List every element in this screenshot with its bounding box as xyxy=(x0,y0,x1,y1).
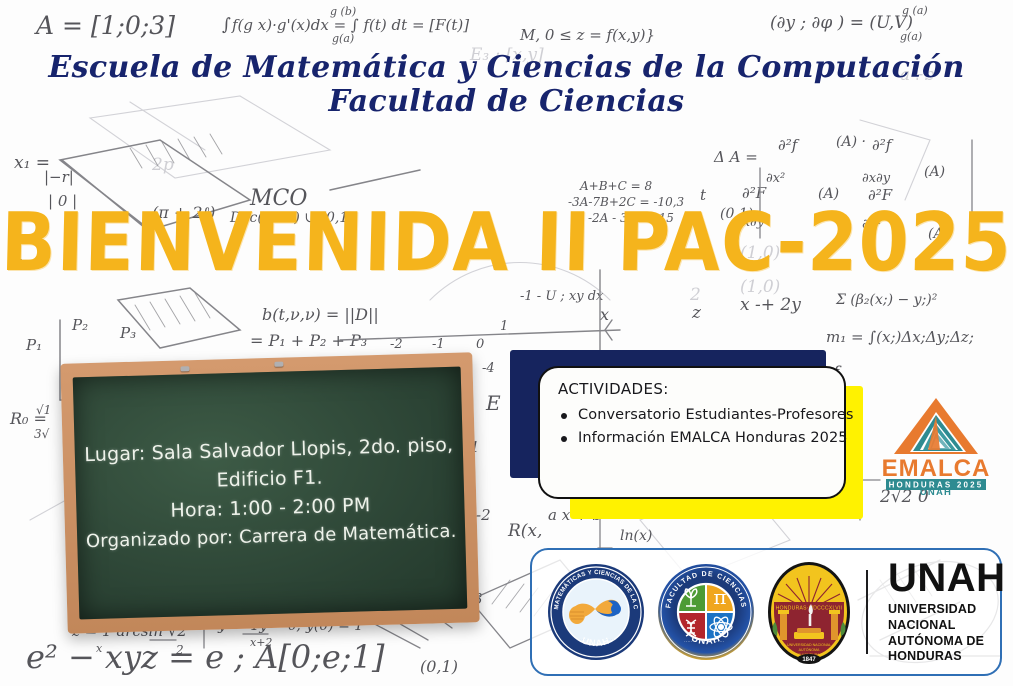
svg-text:g (b): g (b) xyxy=(330,5,356,18)
svg-text:m₁ = ∫(x;)Δx;Δy;Δz;: m₁ = ∫(x;)Δx;Δy;Δz; xyxy=(826,328,974,346)
poster-header: Escuela de Matemática y Ciencias de la C… xyxy=(0,52,1013,118)
chalkboard-surface: Lugar: Sala Salvador Llopis, 2do. piso, … xyxy=(73,367,468,620)
svg-text:0: 0 xyxy=(476,337,484,352)
svg-text:x+2: x+2 xyxy=(250,636,272,649)
svg-text:∂²f: ∂²f xyxy=(778,136,800,154)
page-title: BIENVENIDA II PAC-2025 xyxy=(0,206,1013,278)
activities-card: ACTIVIDADES: Conversatorio Estudiantes-P… xyxy=(510,350,860,520)
svg-text:e² − xyz = e ; A[0;e;1]: e² − xyz = e ; A[0;e;1] xyxy=(26,638,385,676)
svg-text:3√: 3√ xyxy=(34,427,50,441)
svg-text:UNIVERSIDAD NACIONAL: UNIVERSIDAD NACIONAL xyxy=(787,643,831,647)
svg-text:(0,1): (0,1) xyxy=(420,657,458,676)
svg-text:x -+ 2y: x -+ 2y xyxy=(740,295,801,315)
unah-subtitle-line-1: UNIVERSIDAD NACIONAL xyxy=(888,602,1006,633)
svg-text:-1 - U ; xy dx: -1 - U ; xy dx xyxy=(520,289,604,304)
svg-text:b(t,ν,ν) = ||D||: b(t,ν,ν) = ||D|| xyxy=(262,305,379,324)
institutional-logo-bar: ESCUELA DE MATEMÁTICAS Y CIENCIAS DE LA … xyxy=(530,548,1002,676)
escuela-matematicas-logo: ESCUELA DE MATEMÁTICAS Y CIENCIAS DE LA … xyxy=(546,562,646,662)
dna-icon xyxy=(686,620,696,636)
svg-text:1: 1 xyxy=(500,319,508,334)
svg-text:(A) ·: (A) · xyxy=(836,134,866,150)
unah-coat-of-arms: HONDURAS·MDCCCXLVII UNIVERSIDAD NACIONAL… xyxy=(766,560,852,664)
svg-text:·····: ····· xyxy=(684,639,693,645)
svg-text:M, 0 ≤ z = f(x,y)}: M, 0 ≤ z = f(x,y)} xyxy=(519,26,655,44)
pi-icon: π xyxy=(713,585,726,609)
svg-text:-4: -4 xyxy=(482,361,495,376)
activities-panel: ACTIVIDADES: Conversatorio Estudiantes-P… xyxy=(538,366,846,499)
svg-text:x: x xyxy=(96,642,103,655)
svg-text:= P₁ + P₂ + P₃: = P₁ + P₂ + P₃ xyxy=(250,331,367,350)
svg-text:-2: -2 xyxy=(476,506,491,524)
svg-text:g(a): g(a) xyxy=(332,32,354,45)
svg-text:·····: ····· xyxy=(606,637,617,643)
svg-text:P₁: P₁ xyxy=(25,336,42,354)
unah-acronym: UNAH xyxy=(888,559,1006,598)
svg-text:(A): (A) xyxy=(924,164,945,180)
chalkboard-line-2: Edificio F1. xyxy=(216,463,323,495)
svg-text:-1: -1 xyxy=(432,337,445,352)
header-line-1: Escuela de Matemática y Ciencias de la C… xyxy=(0,52,1013,84)
svg-text:∂x²: ∂x² xyxy=(766,171,785,186)
svg-text:E: E xyxy=(485,391,501,415)
svg-text:z: z xyxy=(691,303,702,323)
svg-text:P₃: P₃ xyxy=(119,324,136,342)
svg-text:2: 2 xyxy=(175,643,184,657)
emalca-triangle-icon xyxy=(894,398,978,454)
header-line-2: Facultad de Ciencias xyxy=(0,86,1013,118)
unah-wordmark: UNAH UNIVERSIDAD NACIONAL AUTÓNOMA DE HO… xyxy=(888,559,1006,665)
svg-text:Δ A =: Δ A = xyxy=(713,148,758,166)
unah-subtitle-line-2: AUTÓNOMA DE HONDURAS xyxy=(888,634,1006,665)
chalkboard: Lugar: Sala Salvador Llopis, 2do. piso, … xyxy=(60,352,479,633)
svg-text:Σ (β₂(x;) − y;)²: Σ (β₂(x;) − y;)² xyxy=(835,292,938,308)
facultad-ciencias-logo: FACULTAD DE CIENCIAS UNAH ····· ····· xyxy=(656,562,756,662)
svg-text:|−r|: |−r| xyxy=(44,168,74,186)
poster-canvas: 2p f(x) = (x,y) 2 (1,0) (1,0) E₃ : [x,y]… xyxy=(0,0,1013,686)
svg-text:·····: ····· xyxy=(577,637,588,643)
chalkboard-clip-left xyxy=(180,366,189,371)
svg-text:R(x,: R(x, xyxy=(507,521,542,541)
svg-text:-2: -2 xyxy=(390,337,403,352)
emalca-wordmark: EMALCA xyxy=(882,455,991,482)
emalca-institution: UNAH xyxy=(920,487,952,496)
svg-text:∫: ∫ xyxy=(222,15,231,35)
svg-text:P₂: P₂ xyxy=(71,316,88,334)
coat-of-arms-year: 1847 xyxy=(802,657,816,663)
svg-text:√1: √1 xyxy=(36,403,51,417)
activities-list-item: Información EMALCA Honduras 2025 xyxy=(558,427,828,450)
svg-text:x: x xyxy=(600,305,609,324)
svg-text:2p: 2p xyxy=(151,155,174,175)
svg-text:AUTÓNOMA: AUTÓNOMA xyxy=(799,647,820,652)
svg-text:(∂y ; ∂φ ) = (U,V): (∂y ; ∂φ ) = (U,V) xyxy=(770,13,913,33)
svg-text:∂x∂y: ∂x∂y xyxy=(862,171,891,186)
activities-title: ACTIVIDADES: xyxy=(558,380,828,398)
chalkboard-line-4: Organizado por: Carrera de Matemática. xyxy=(86,517,457,555)
emalca-logo: EMALCA HONDURAS 2025 UNAH xyxy=(866,392,1006,496)
svg-text:ln(x): ln(x) xyxy=(620,528,652,544)
svg-text:·····: ····· xyxy=(716,639,725,645)
svg-text:∂²f: ∂²f xyxy=(872,136,894,154)
activities-list-item: Conversatorio Estudiantes-Profesores xyxy=(558,404,828,427)
chalkboard-clip-right xyxy=(274,362,283,367)
unah-divider xyxy=(866,570,868,654)
svg-text:A+B+C = 8: A+B+C = 8 xyxy=(579,179,652,193)
svg-text:A = [1;0;3]: A = [1;0;3] xyxy=(34,11,175,40)
page-title-text: BIENVENIDA II PAC-2025 xyxy=(0,202,1013,283)
activities-list: Conversatorio Estudiantes-Profesores Inf… xyxy=(558,404,828,451)
